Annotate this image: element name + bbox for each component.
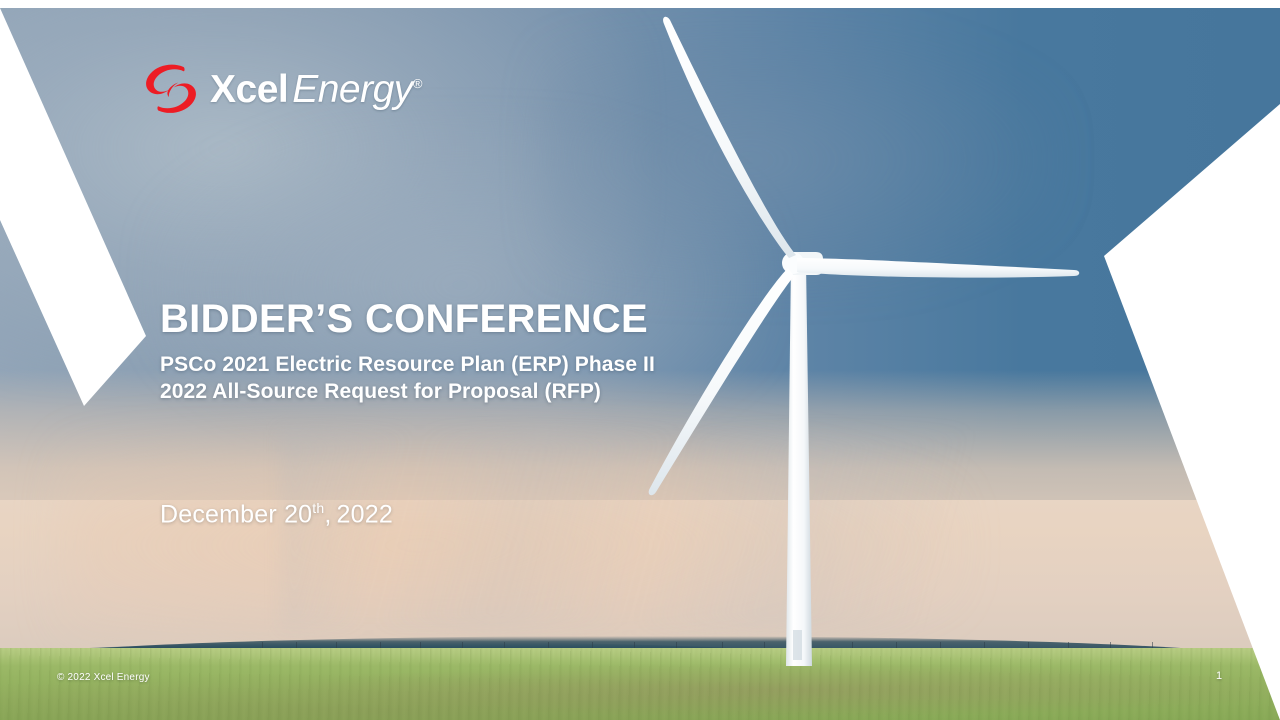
xcel-energy-logo: XcelEnergy®	[142, 60, 422, 118]
slide-top-margin	[0, 0, 1280, 8]
logo-word-energy: Energy	[292, 68, 413, 111]
subtitle-line-1: PSCo 2021 Electric Resource Plan (ERP) P…	[160, 352, 920, 378]
registered-trademark-mark: ®	[413, 76, 422, 91]
slide-title: BIDDER’S CONFERENCE	[160, 298, 920, 341]
headline-block: BIDDER’S CONFERENCE PSCo 2021 Electric R…	[160, 298, 920, 405]
page-number: 1	[1216, 670, 1222, 682]
xcel-energy-swirl-icon	[142, 63, 200, 115]
date-month-day: December 20	[160, 500, 312, 528]
subtitle-line-2: 2022 All-Source Request for Proposal (RF…	[160, 379, 920, 405]
slide-date: December 20th,2022	[160, 500, 393, 529]
presentation-slide: XcelEnergy® BIDDER’S CONFERENCE PSCo 202…	[0, 0, 1280, 720]
date-year: 2022	[337, 500, 393, 528]
copyright-notice: © 2022 Xcel Energy	[57, 672, 150, 683]
slide-subtitle: PSCo 2021 Electric Resource Plan (ERP) P…	[160, 352, 920, 405]
logo-wordmark: XcelEnergy®	[210, 70, 422, 109]
logo-word-xcel: Xcel	[210, 68, 288, 111]
date-comma: ,	[324, 500, 331, 528]
date-ordinal-suffix: th	[312, 500, 324, 516]
